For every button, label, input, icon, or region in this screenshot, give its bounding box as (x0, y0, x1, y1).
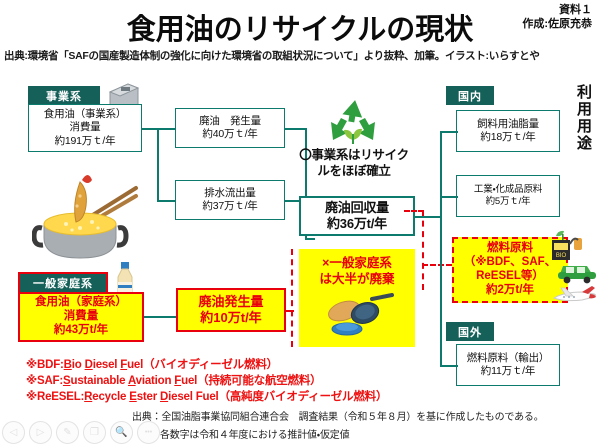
dashed-connector-left-vertical (291, 249, 293, 347)
back-glyph: ◁ (10, 427, 18, 438)
footnote-reesel: ※ReESEL:Recycle Ester Diesel Fuel（高純度バイオ… (26, 388, 387, 404)
copy-glyph: ❐ (90, 427, 99, 438)
usage-vertical-label: 利用用途 (573, 84, 594, 152)
export-fuel-line1: 燃料原料（輸出） (467, 352, 549, 365)
business-consumption-line3: 約191万ｔ/年 (44, 135, 126, 148)
footnote-saf-s: S (63, 375, 70, 387)
footnote-saf-jp: （持続可能な航空燃料） (197, 375, 321, 387)
footnote-reesel-jp: （高純度バイオディーゼル燃料） (219, 391, 388, 403)
pen-icon[interactable]: ✎ (56, 421, 79, 444)
household-consumption-line1: 食用油（家庭系） (35, 296, 127, 310)
household-consumption-box: 食用油（家庭系） 消費量 約43万t/年 (18, 292, 144, 342)
tag-domestic-label: 国内 (458, 88, 482, 104)
pen-glyph: ✎ (63, 427, 71, 438)
waste-oil-line2: 約40万ｔ/年 (199, 128, 261, 141)
footnote-reesel-d: D (160, 391, 168, 403)
fuel-line4: 約2万t/年 (464, 284, 556, 298)
document-number-block: 資料１ 作成:佐原充恭 (522, 3, 592, 31)
connector-wasteoil-right (285, 128, 307, 130)
tag-overseas: 国外 (446, 322, 494, 341)
feed-oil-line2: 約18万ｔ/年 (477, 131, 539, 144)
discard-line2: は大半が廃棄 (299, 272, 415, 288)
more-icon[interactable]: ••• (137, 421, 160, 444)
tag-domestic: 国内 (446, 86, 494, 105)
footnote-saf-a: A (128, 375, 136, 387)
footer-note: 各数字は令和４年度における推計値・仮定値 (160, 426, 349, 441)
footnote-reesel-p3: iesel Fuel (168, 391, 218, 403)
footnote-reesel-mark: ※ReESEL: (26, 391, 84, 403)
document-number: 資料１ (522, 3, 592, 17)
footnote-saf-p3: uel (181, 375, 197, 387)
infographic-canvas: 食用油のリサイクルの現状 資料１ 作成:佐原充恭 出典:環境省「SAFの国産製造… (0, 0, 600, 446)
footnote-bdf-p2: iesel (93, 359, 121, 371)
footnote-bdf-p1: io (72, 359, 85, 371)
feed-oil-line1: 飼料用油脂量 (477, 118, 539, 131)
connector-business-split (157, 128, 159, 200)
collected-waste-oil-box: 廃油回収量 約36万t/年 (299, 196, 415, 236)
footnote-saf-p1: ustainable (71, 375, 128, 387)
drain-outflow-line2: 約37万ｔ/年 (202, 200, 257, 213)
footer-source: 出典：全国油脂事業協同組合連合会 調査結果（令和５年８月）を基に作成したものであ… (132, 408, 544, 423)
footnote-reesel-e: E (129, 391, 136, 403)
footnote-reesel-p1: ecycle (92, 391, 129, 403)
household-waste-line2: 約10万t/年 (198, 310, 263, 326)
industrial-material-box: 工業・化成品原料 約5万ｔ/年 (456, 175, 560, 217)
search-glyph: 🔍 (115, 427, 127, 438)
drain-outflow-box: 排水流出量 約37万ｔ/年 (175, 180, 285, 220)
forward-icon[interactable]: ▷ (29, 421, 52, 444)
discarded-pan-illustration (314, 293, 400, 337)
center-message-text: 〇事業系はリサイクルをほぼ確立 (299, 148, 409, 178)
footnotes-block: ※BDF:Bio Diesel Fuel（バイオディーゼル燃料） ※SAF:Su… (26, 356, 387, 404)
fuel-line1: 燃料原料 (464, 242, 556, 256)
footnote-saf: ※SAF:Sustainable Aviation Fuel（持続可能な航空燃料… (26, 372, 387, 388)
collected-line1: 廃油回収量 (325, 200, 389, 216)
connector-household-out (144, 316, 176, 318)
overlay-toolbar[interactable]: ◁ ▷ ✎ ❐ 🔍 ••• (2, 421, 160, 444)
dashed-connector-top (404, 210, 424, 212)
connector-to-waste-oil (157, 128, 175, 130)
dashed-connector-to-fuel (422, 264, 452, 266)
connector-collected-right (415, 216, 441, 218)
discard-line1: ×一般家庭系 (299, 256, 415, 272)
footnote-bdf-mark: ※BDF: (26, 359, 64, 371)
tag-household-label: 一般家庭系 (33, 275, 93, 291)
industrial-line1: 工業・化成品原料 (474, 184, 542, 196)
recycle-sprout-icon (323, 96, 383, 148)
discard-warning-box: ×一般家庭系 は大半が廃棄 (299, 249, 415, 347)
collected-line2: 約36万t/年 (325, 216, 389, 232)
footnote-bdf-p3: uel (127, 359, 143, 371)
fuel-material-box: 燃料原料 （※BDF、SAF、 ReESEL等） 約2万t/年 (452, 237, 568, 303)
tag-business: 事業系 (28, 86, 100, 105)
household-consumption-line2: 消費量 (35, 310, 127, 324)
back-icon[interactable]: ◁ (2, 421, 25, 444)
header-source-note: 出典:環境省「SAFの国産製造体制の強化に向けた環境省の取組状況について」より抜… (4, 48, 596, 63)
footnote-bdf: ※BDF:Bio Diesel Fuel（バイオディーゼル燃料） (26, 356, 387, 372)
tag-overseas-label: 国外 (458, 324, 482, 340)
connector-to-feed (440, 131, 458, 133)
connector-right-trunk (440, 131, 442, 366)
business-consumption-box: 食用油（事業系） 消費量 約191万ｔ/年 (28, 104, 142, 152)
usage-vertical-text: 利用用途 (575, 84, 592, 152)
export-fuel-line2: 約11万ｔ/年 (467, 365, 549, 378)
search-icon[interactable]: 🔍 (110, 421, 133, 444)
frying-pot-illustration (32, 166, 140, 266)
center-message: 〇事業系はリサイクルをほぼ確立 (296, 148, 412, 179)
copy-icon[interactable]: ❐ (83, 421, 106, 444)
forward-glyph: ▷ (37, 427, 45, 438)
tag-household-frame: 一般家庭系 (18, 272, 108, 294)
fuel-line2: （※BDF、SAF、 (464, 256, 556, 270)
business-consumption-line1: 食用油（事業系） (44, 108, 126, 121)
connector-into-collected (305, 238, 315, 240)
export-fuel-box: 燃料原料（輸出） 約11万ｔ/年 (456, 344, 560, 386)
dashed-connector-household (286, 310, 294, 312)
feed-oil-box: 飼料用油脂量 約18万ｔ/年 (456, 110, 560, 152)
more-glyph: ••• (145, 429, 152, 436)
dashed-connector-right-vertical (422, 210, 424, 290)
footnote-reesel-p2: ster (137, 391, 160, 403)
household-waste-line1: 廃油発生量 (198, 294, 263, 310)
business-consumption-line2: 消費量 (44, 121, 126, 134)
drain-outflow-line1: 排水流出量 (202, 187, 257, 200)
household-consumption-line3: 約43万t/年 (35, 324, 127, 338)
waste-oil-line1: 廃油 発生量 (199, 115, 261, 128)
document-author: 作成:佐原充恭 (522, 17, 592, 31)
household-waste-oil-box: 廃油発生量 約10万t/年 (176, 288, 286, 332)
footnote-saf-p2: viation (136, 375, 175, 387)
footnote-saf-mark: ※SAF: (26, 375, 63, 387)
fuel-line3: ReESEL等） (464, 270, 556, 284)
connector-business-out (142, 128, 158, 130)
waste-oil-box: 廃油 発生量 約40万ｔ/年 (175, 108, 285, 148)
footnote-bdf-jp: （バイオディーゼル燃料） (143, 359, 278, 371)
tag-business-label: 事業系 (46, 88, 82, 104)
connector-to-export (440, 365, 458, 367)
page-title: 食用油のリサイクルの現状 (0, 6, 600, 48)
industrial-line2: 約5万ｔ/年 (474, 196, 542, 208)
connector-to-drain (157, 200, 175, 202)
footnote-bdf-b: B (64, 359, 72, 371)
connector-to-industrial (440, 196, 458, 198)
footnote-bdf-d: D (85, 359, 93, 371)
